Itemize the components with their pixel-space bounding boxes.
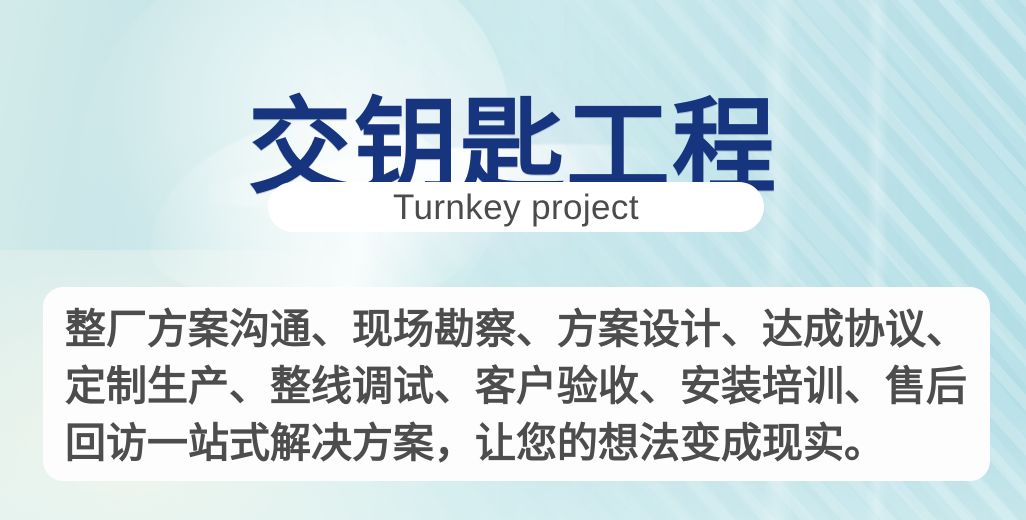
banner-content: 交钥匙工程 Turnkey project 整厂方案沟通、现场勘察、方案设计、达…	[0, 0, 1026, 520]
description-card: 整厂方案沟通、现场勘察、方案设计、达成协议、 定制生产、整线调试、客户验收、安装…	[43, 287, 990, 481]
description-line-2: 定制生产、整线调试、客户验收、安装培训、售后	[65, 358, 968, 415]
turnkey-project-banner: 交钥匙工程 Turnkey project 整厂方案沟通、现场勘察、方案设计、达…	[0, 0, 1026, 520]
subtitle-pill: Turnkey project	[268, 182, 764, 232]
description-line-1: 整厂方案沟通、现场勘察、方案设计、达成协议、	[65, 301, 968, 358]
description-line-3: 回访一站式解决方案，让您的想法变成现实。	[65, 415, 968, 472]
subtitle-text: Turnkey project	[393, 190, 639, 225]
